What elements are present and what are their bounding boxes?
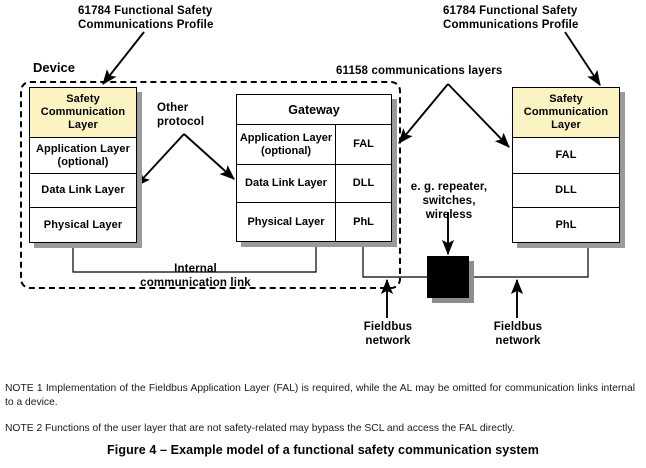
remote-layer-fal[interactable]: FAL xyxy=(513,138,619,174)
repeater-device-box[interactable] xyxy=(427,256,469,298)
gateway-row-physical: Physical Layer PhL xyxy=(237,203,391,241)
note-2: NOTE 2 Functions of the user layer that … xyxy=(5,422,635,436)
gateway-row-data-link: Data Link Layer DLL xyxy=(237,165,391,203)
gateway-layer-physical[interactable]: Physical Layer xyxy=(237,203,336,241)
leader-comm-layers-right xyxy=(448,84,509,147)
gateway-row-application: Application Layer (optional) FAL xyxy=(237,125,391,165)
layer-application[interactable]: Application Layer (optional) xyxy=(30,138,136,174)
figure-caption: Figure 4 – Example model of a functional… xyxy=(0,443,646,457)
device-label: Device xyxy=(33,60,75,75)
callout-profile-left: 61784 Functional Safety Communications P… xyxy=(78,4,214,32)
remote-layer-dll[interactable]: DLL xyxy=(513,174,619,208)
gateway-box: Gateway Application Layer (optional) FAL… xyxy=(236,94,392,242)
callout-other-protocol: Other protocol xyxy=(157,101,204,129)
leader-comm-layers-left xyxy=(399,84,448,143)
layer-data-link[interactable]: Data Link Layer xyxy=(30,174,136,208)
remote-device-stack: Safety Communication Layer FAL DLL PhL xyxy=(512,87,620,243)
gateway-layer-application[interactable]: Application Layer (optional) xyxy=(237,125,336,164)
callout-fieldbus-right: Fieldbus network xyxy=(475,320,561,348)
layer-physical[interactable]: Physical Layer xyxy=(30,208,136,242)
gateway-layer-dll[interactable]: DLL xyxy=(336,165,391,202)
layer-safety-communication[interactable]: Safety Communication Layer xyxy=(30,88,136,138)
gateway-layer-phl[interactable]: PhL xyxy=(336,203,391,241)
callout-profile-right: 61784 Functional Safety Communications P… xyxy=(443,4,579,32)
fieldbus-line-right xyxy=(469,245,588,277)
leader-profile-left xyxy=(103,32,144,84)
callout-repeater: e. g. repeater, switches, wireless xyxy=(403,180,495,222)
remote-layer-safety-communication[interactable]: Safety Communication Layer xyxy=(513,88,619,138)
gateway-layer-data-link[interactable]: Data Link Layer xyxy=(237,165,336,202)
leader-profile-right xyxy=(565,32,600,85)
device-protocol-stack: Safety Communication Layer Application L… xyxy=(29,87,137,243)
remote-layer-phl[interactable]: PhL xyxy=(513,208,619,242)
callout-comm-layers: 61158 communications layers xyxy=(336,64,502,78)
callout-fieldbus-left: Fieldbus network xyxy=(345,320,431,348)
gateway-title: Gateway xyxy=(237,95,391,125)
note-1: NOTE 1 Implementation of the Fieldbus Ap… xyxy=(5,382,635,409)
gateway-layer-fal[interactable]: FAL xyxy=(336,125,391,164)
callout-internal-link: Internal communication link xyxy=(108,262,283,290)
